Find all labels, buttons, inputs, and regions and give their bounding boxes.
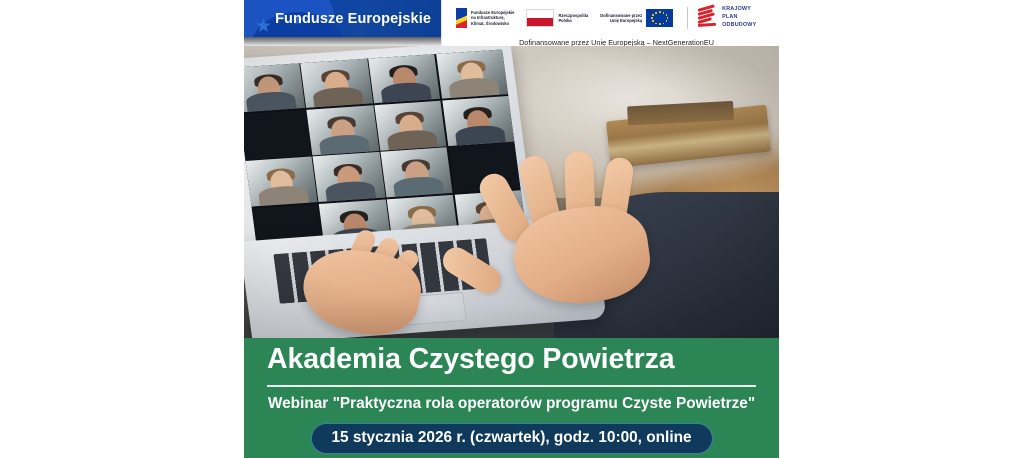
participant-tile bbox=[368, 54, 440, 104]
webinar-subtitle: Webinar "Praktyczna rola operatorów prog… bbox=[244, 395, 779, 413]
participant-tile bbox=[244, 110, 311, 160]
logo-caption: KRAJOWY PLAN ODBUDOWY bbox=[722, 6, 756, 29]
logo-caption: Dofinansowane przez Unię Europejską bbox=[600, 13, 642, 24]
logo-divider bbox=[687, 7, 688, 29]
logo-fundusze-europejskie-infrastruktura: Fundusze Europejskie na Infrastrukturę, … bbox=[456, 8, 514, 28]
event-date-badge: 15 stycznia 2026 r. (czwartek), godz. 10… bbox=[310, 423, 712, 454]
logo-caption: Rzeczpospolita Polska bbox=[558, 13, 588, 24]
page-title: Akademia Czystego Powietrza bbox=[267, 343, 675, 376]
logo-rzeczpospolita-polska: Rzeczpospolita Polska bbox=[526, 9, 588, 27]
title-banner: Akademia Czystego Powietrza Webinar "Pra… bbox=[244, 338, 779, 458]
participant-tile bbox=[313, 152, 385, 202]
logo-krajowy-plan-odbudowy: KRAJOWY PLAN ODBUDOWY bbox=[698, 6, 756, 29]
participant-tile bbox=[244, 63, 305, 113]
logo-row: Fundusze Europejskie na Infrastrukturę, … bbox=[442, 0, 791, 36]
kpo-mark-icon bbox=[698, 8, 718, 27]
polish-flag-icon bbox=[526, 9, 554, 27]
participant-tile bbox=[245, 157, 317, 207]
eu-star-icon: ★ bbox=[255, 17, 272, 36]
logo-caption: Fundusze Europejskie na Infrastrukturę, … bbox=[471, 10, 514, 26]
right-hand bbox=[485, 151, 667, 309]
participant-tile bbox=[442, 96, 514, 146]
eu-flag-icon bbox=[646, 9, 673, 27]
hero-photo bbox=[244, 46, 779, 338]
logo-dofinansowane-przez-ue: Dofinansowane przez Unię Europejską bbox=[600, 9, 673, 27]
banner-shadow bbox=[244, 37, 441, 46]
left-hand bbox=[303, 227, 442, 338]
participant-tile bbox=[435, 49, 507, 99]
participant-tile bbox=[380, 148, 452, 198]
poster-canvas: ★ ★ ★ Fundusze Europejskie Fundusze Euro… bbox=[0, 0, 1024, 458]
participant-tile bbox=[300, 58, 372, 108]
title-divider bbox=[267, 385, 756, 387]
fe-banner-label: Fundusze Europejskie bbox=[275, 0, 431, 37]
fundusze-europejskie-banner: ★ ★ ★ Fundusze Europejskie bbox=[244, 0, 441, 37]
participant-tile bbox=[374, 101, 446, 151]
participant-tile bbox=[306, 105, 378, 155]
fe-flag-mark-icon bbox=[456, 8, 467, 28]
